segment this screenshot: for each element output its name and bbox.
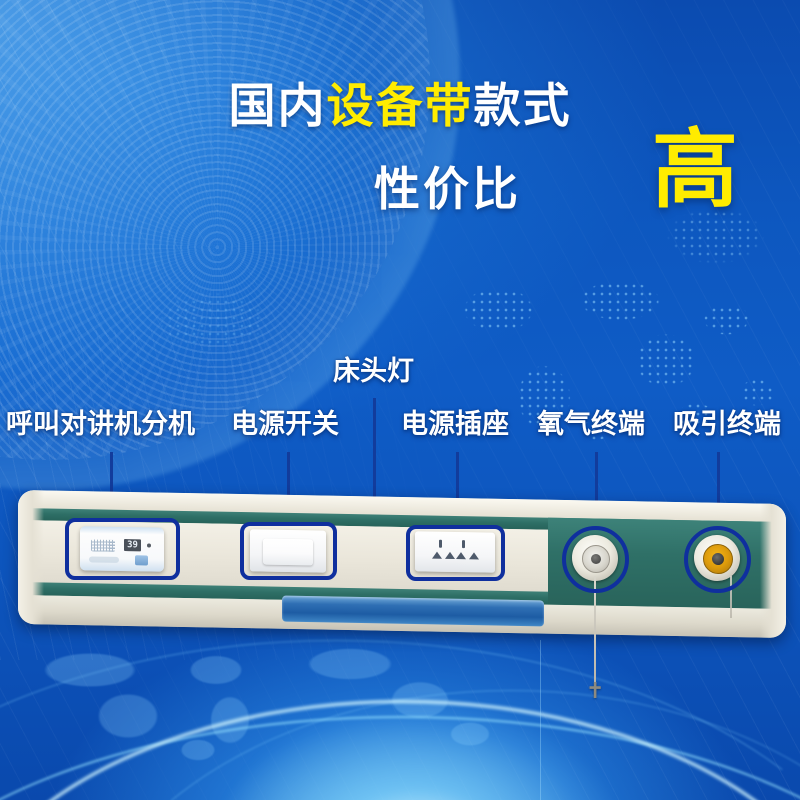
callout-label-oxygen-terminal: 氧气终端 — [537, 411, 645, 438]
callout-label-intercom-extension: 呼叫对讲机分机 — [6, 411, 195, 438]
callout-label-bed-head-lamp: 床头灯 — [333, 358, 414, 385]
callout-label-power-socket: 电源插座 — [401, 411, 509, 438]
highlight-power-switch — [240, 522, 337, 580]
promo-banner: 国内设备带款式 性价比 高 呼叫对讲机分机 电源开关 床头灯 电源插座 氧气终端… — [0, 0, 800, 800]
highlight-intercom-extension — [65, 518, 180, 580]
highlight-suction-terminal — [684, 526, 751, 593]
pull-cord-handle-icon: ✝ — [586, 680, 604, 702]
panel-end-cap-right — [760, 504, 786, 638]
callout-label-suction-terminal: 吸引终端 — [673, 411, 781, 438]
bed-head-lamp-diffuser[interactable] — [282, 596, 544, 627]
halftone-world-map — [430, 250, 800, 480]
highlight-oxygen-terminal — [562, 526, 629, 593]
panel-end-cap-left — [18, 490, 44, 624]
halftone-dots-left — [110, 258, 340, 398]
callout-label-power-switch: 电源开关 — [231, 411, 339, 438]
highlight-power-socket — [406, 525, 505, 581]
vertical-guide-line — [540, 640, 541, 800]
